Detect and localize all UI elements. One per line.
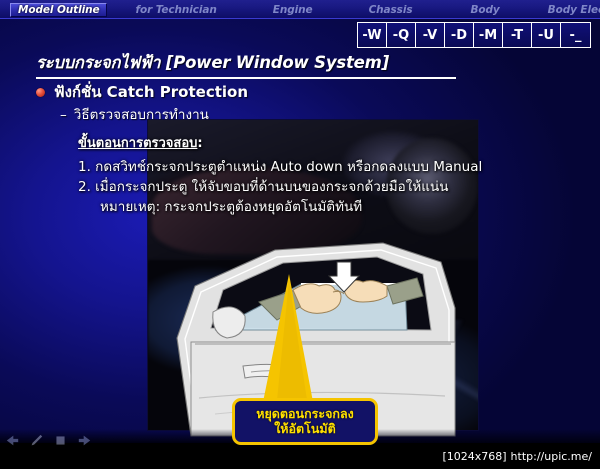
button-q[interactable]: -Q xyxy=(387,23,416,47)
nav-tab-body[interactable]: Body xyxy=(464,3,505,17)
button-t[interactable]: -T xyxy=(503,23,532,47)
callout-line-2: ให้อัตโนมัติ xyxy=(241,421,369,436)
letter-button-row: -W -Q -V -D -M -T -U -_ xyxy=(357,22,591,48)
button-m[interactable]: -M xyxy=(474,23,503,47)
nav-tab-model-outline[interactable]: Model Outline xyxy=(10,3,107,17)
top-navigation-bar: Model Outline for Technician Engine Chas… xyxy=(0,0,600,19)
forward-arrow-icon[interactable] xyxy=(78,434,91,447)
nav-tab-engine[interactable]: Engine xyxy=(267,3,319,17)
callout-line-1: หยุดตอนกระจกลง xyxy=(241,406,369,421)
slide-title: ระบบกระจกไฟฟ้า [Power Window System] xyxy=(36,50,456,79)
procedure-step-1: 1. กดสวิทช์กระจกประตูตำแหน่ง Auto down ห… xyxy=(78,157,548,177)
button-underscore[interactable]: -_ xyxy=(561,23,590,47)
button-w[interactable]: -W xyxy=(358,23,387,47)
nav-tab-chassis[interactable]: Chassis xyxy=(363,3,419,17)
presentation-slide: Model Outline for Technician Engine Chas… xyxy=(0,0,600,469)
slide-controls-toolbar xyxy=(6,434,91,447)
nav-tab-list: Model Outline for Technician Engine Chas… xyxy=(0,0,600,19)
side-mirror xyxy=(213,307,245,338)
button-v[interactable]: -V xyxy=(416,23,445,47)
callout-box: หยุดตอนกระจกลง ให้อัตโนมัติ xyxy=(232,398,378,445)
procedure-note: หมายเหตุ: กระจกประตูต้องหยุดอัตโนมัติทัน… xyxy=(78,197,548,217)
resolution-label: [1024x768] xyxy=(442,450,506,463)
procedure-step-2: 2. เมื่อกระจกประตู ให้จับขอบที่ด้านบนของ… xyxy=(78,177,548,197)
bullet-dot-icon xyxy=(36,88,45,97)
pen-icon[interactable] xyxy=(30,434,43,447)
source-url-label: http://upic.me/ xyxy=(511,450,592,463)
dash-marker: – xyxy=(60,107,67,123)
button-d[interactable]: -D xyxy=(445,23,474,47)
procedure-heading: ขั้นตอนการตรวจสอบ: xyxy=(78,132,548,153)
bullet-level1-label: ฟังก์ชั่น Catch Protection xyxy=(54,80,248,104)
procedure-text-block: ขั้นตอนการตรวจสอบ: 1. กดสวิทช์กระจกประตู… xyxy=(78,132,548,217)
procedure-heading-underlined: ขั้นตอนการตรวจสอบ xyxy=(78,136,197,151)
back-arrow-icon[interactable] xyxy=(6,434,19,447)
nav-tab-body-electrical[interactable]: Body Electrical xyxy=(542,3,600,17)
bullet-level1: ฟังก์ชั่น Catch Protection xyxy=(36,80,248,104)
callout-pointer-wedge xyxy=(255,274,325,404)
stop-square-icon[interactable] xyxy=(54,434,67,447)
procedure-heading-colon: : xyxy=(197,136,202,151)
button-u[interactable]: -U xyxy=(532,23,561,47)
nav-tab-for-technician[interactable]: for Technician xyxy=(129,3,222,17)
